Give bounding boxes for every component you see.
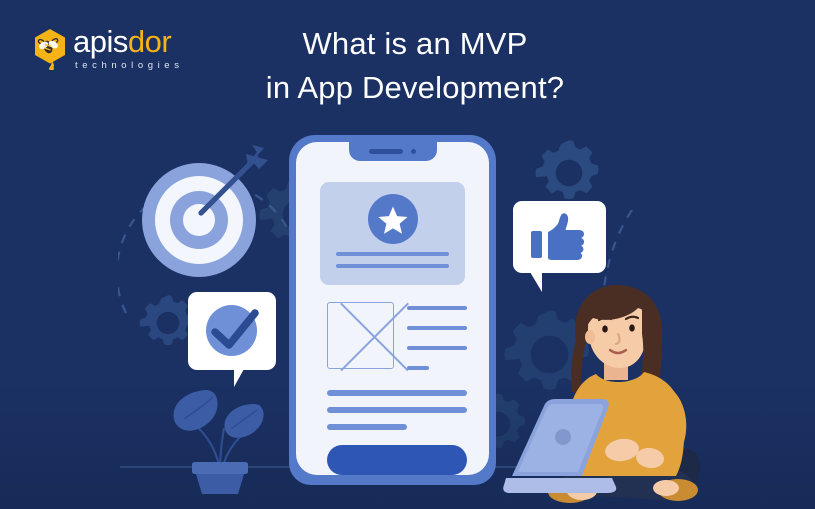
star-icon [378, 205, 408, 235]
target-with-arrow [142, 163, 256, 277]
arrow-icon [180, 135, 278, 233]
body-text-line [327, 424, 407, 430]
phone-speaker [369, 149, 403, 154]
ear [585, 330, 595, 344]
potted-plant [160, 370, 280, 495]
laptop-base [503, 478, 616, 493]
side-text-line [407, 346, 467, 350]
primary-cta-button[interactable] [327, 445, 467, 475]
logo-word-accent: dor [128, 24, 171, 59]
eye-right [629, 324, 635, 331]
banner-canvas: apisdor technologies What is an MVP in A… [0, 0, 815, 509]
smartphone-mockup[interactable] [289, 135, 496, 485]
hero-card [320, 182, 465, 285]
hexagon-bee-icon [33, 28, 67, 68]
hero-text-line [336, 252, 449, 256]
headline-line-1: What is an MVP [302, 26, 527, 61]
brand-logo[interactable]: apisdor technologies [33, 28, 184, 73]
eye-left [602, 325, 608, 332]
logo-word-primary: apis [73, 24, 128, 59]
side-text-line [407, 366, 429, 370]
foot-right [653, 480, 679, 496]
side-text-line [407, 326, 467, 330]
image-placeholder-box [327, 302, 394, 369]
logo-wordmark: apisdor [73, 26, 184, 57]
phone-screen [296, 142, 489, 475]
body-text-line [327, 407, 467, 413]
body-text-line [327, 390, 467, 396]
thumbs-up-speech-bubble[interactable] [513, 201, 606, 273]
phone-camera-icon [411, 149, 416, 154]
phone-notch [349, 142, 437, 161]
woman-with-laptop [500, 282, 715, 509]
laptop-logo-icon [555, 429, 571, 445]
hero-text-line [336, 264, 449, 268]
logo-tagline: technologies [75, 60, 184, 71]
thumbs-up-icon [531, 212, 589, 264]
side-text-line [407, 306, 467, 310]
headline-line-2: in App Development? [205, 66, 625, 110]
check-icon [210, 308, 258, 354]
checkmark-speech-bubble[interactable] [188, 292, 276, 370]
page-title: What is an MVP in App Development? [205, 22, 625, 110]
